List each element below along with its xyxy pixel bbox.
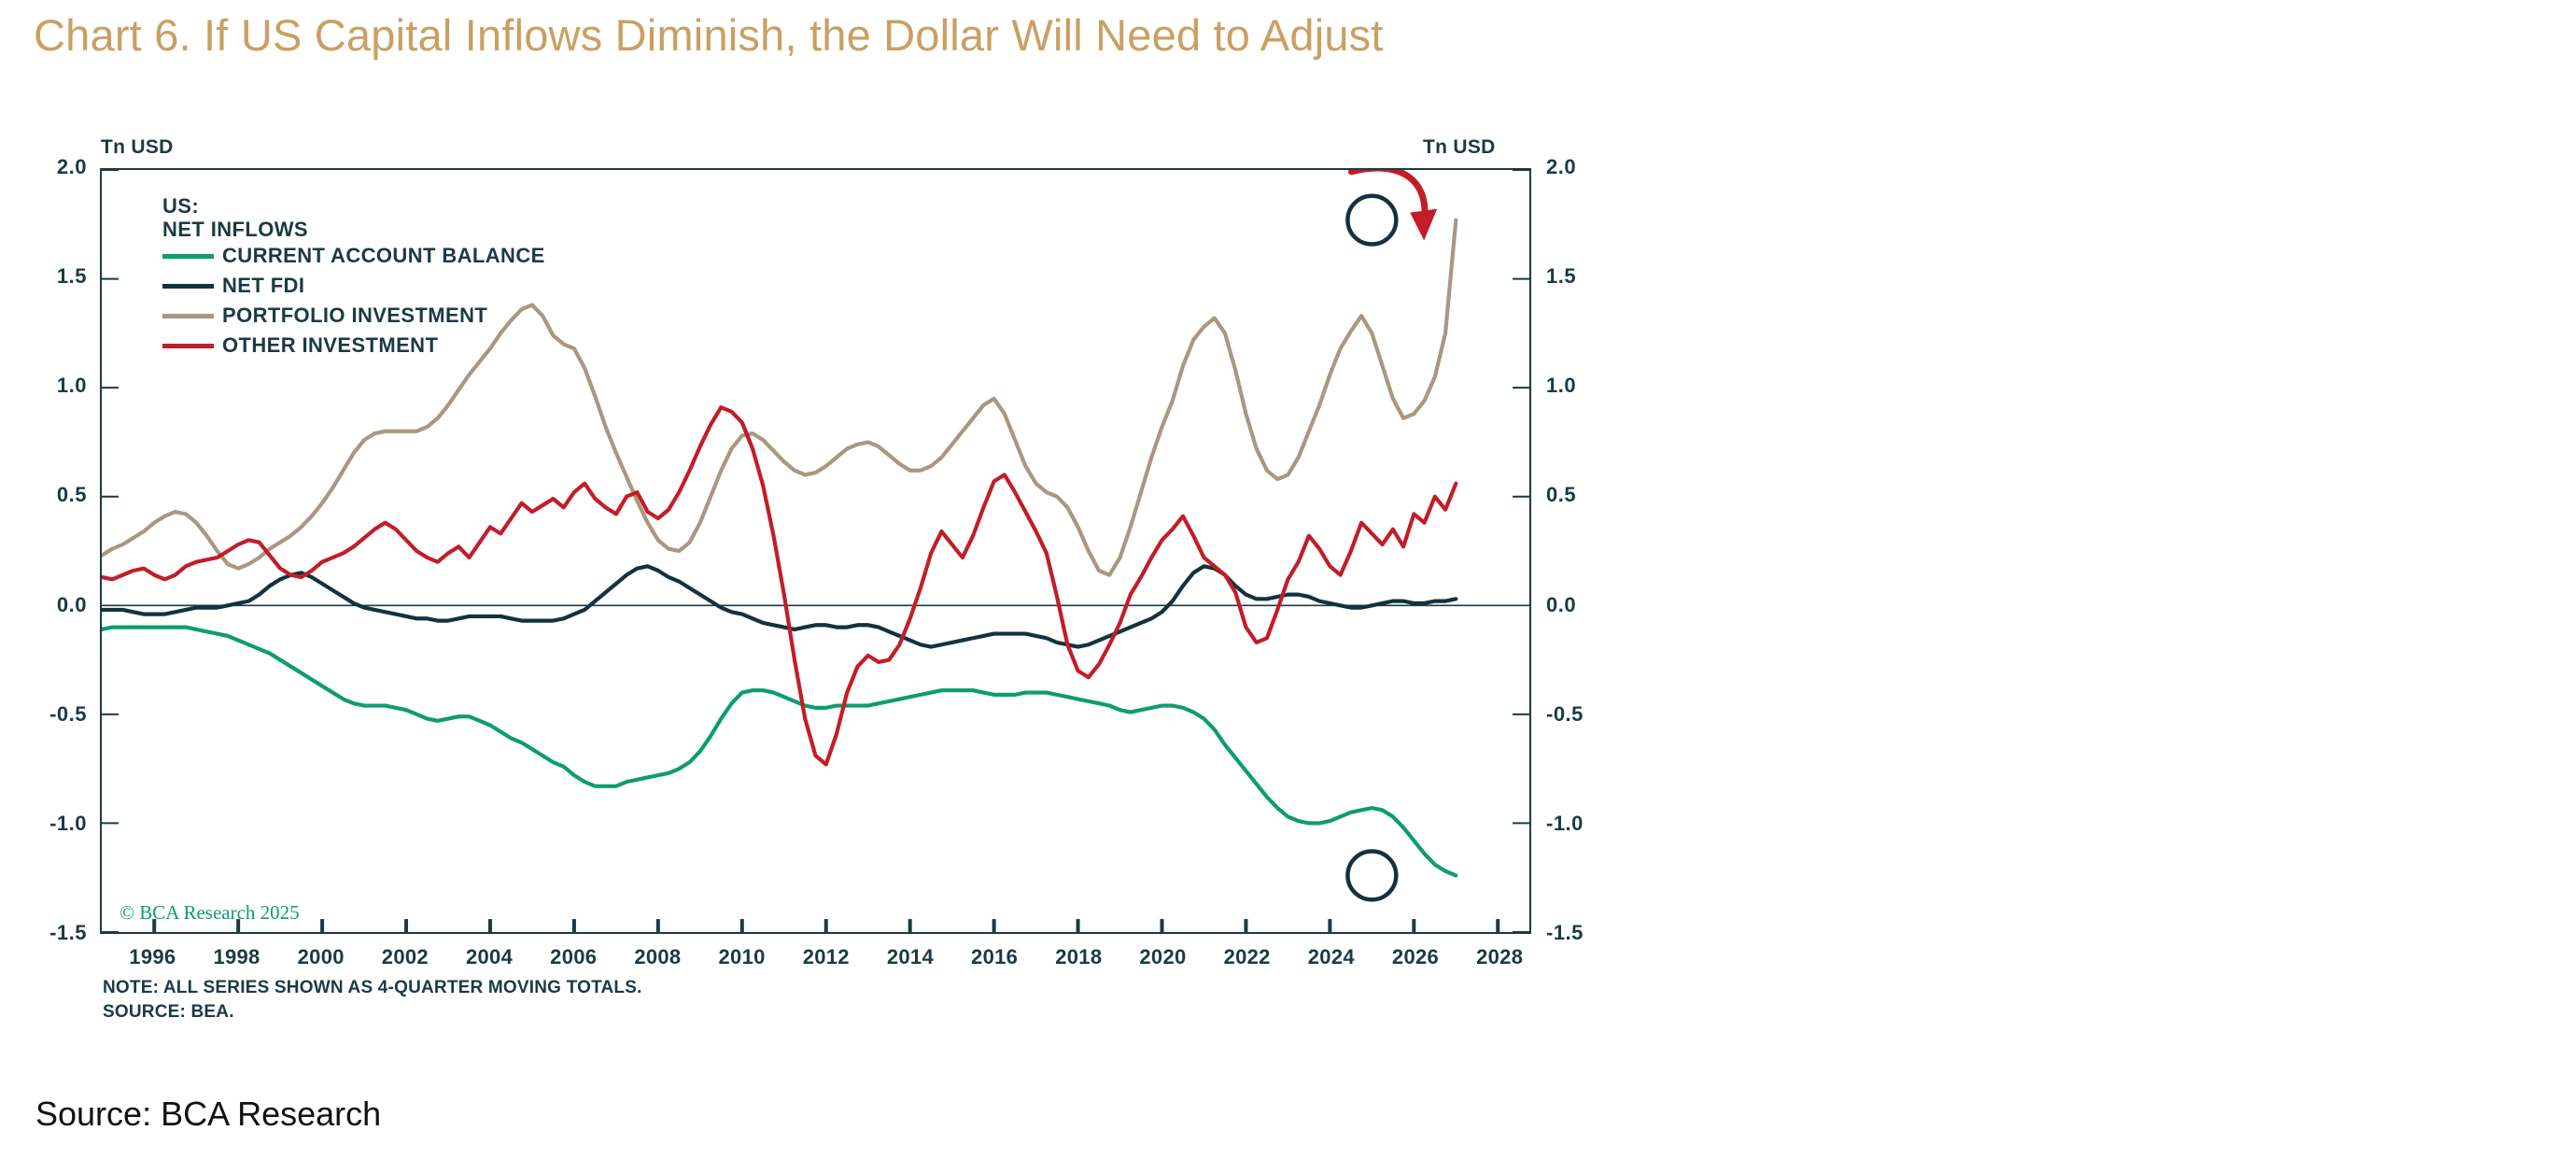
annotation-circle <box>1347 852 1396 900</box>
y-axis-label-right: -1.0 <box>1546 812 1630 836</box>
x-axis-label: 2016 <box>952 945 1036 969</box>
bottom-source-label: Source: BCA Research <box>35 1095 381 1134</box>
x-axis-label: 2024 <box>1289 945 1373 969</box>
chart-container: Tn USD Tn USD 2.01.51.00.50.0-0.5-1.0-1.… <box>0 121 1643 1055</box>
x-axis-label: 2006 <box>531 945 615 969</box>
legend-item[interactable]: PORTFOLIO INVESTMENT <box>162 301 545 331</box>
legend-header-net-inflows: NET INFLOWS <box>162 218 545 241</box>
page-title: Chart 6. If US Capital Inflows Diminish,… <box>34 9 1384 61</box>
y-axis-label-right: -1.5 <box>1546 921 1630 945</box>
y-axis-label-right: 2.0 <box>1546 155 1630 179</box>
chart-legend: US: NET INFLOWS CURRENT ACCOUNT BALANCEN… <box>162 194 545 360</box>
x-axis-label: 2028 <box>1457 945 1541 969</box>
footnote-source: SOURCE: BEA. <box>103 1000 642 1025</box>
legend-header-us: US: <box>162 194 545 218</box>
y-axis-label-left: -1.0 <box>3 812 87 836</box>
legend-item-label: NET FDI <box>222 274 304 298</box>
series-line-other-investment <box>102 407 1456 764</box>
x-axis-label: 2022 <box>1205 945 1289 969</box>
legend-item[interactable]: NET FDI <box>162 271 545 301</box>
x-axis-label: 2002 <box>363 945 447 969</box>
x-axis-label: 2010 <box>700 945 784 969</box>
x-axis-label: 1996 <box>110 945 194 969</box>
y-axis-label-right: 0.5 <box>1546 483 1630 507</box>
legend-swatch-icon <box>162 284 214 289</box>
legend-swatch-icon <box>162 344 214 348</box>
annotation-arrow-head <box>1410 209 1437 241</box>
y-axis-label-left: -1.5 <box>3 921 87 945</box>
legend-item-label: CURRENT ACCOUNT BALANCE <box>222 244 545 268</box>
copyright-notice: © BCA Research 2025 <box>120 901 300 925</box>
y-axis-label-left: 0.0 <box>3 593 87 617</box>
chart-footnotes: NOTE: ALL SERIES SHOWN AS 4-QUARTER MOVI… <box>103 976 642 1025</box>
y-axis-unit-left: Tn USD <box>101 136 174 159</box>
footnote-note: NOTE: ALL SERIES SHOWN AS 4-QUARTER MOVI… <box>103 976 642 1000</box>
y-axis-label-right: 1.0 <box>1546 374 1630 398</box>
x-axis-label: 2018 <box>1036 945 1120 969</box>
y-axis-label-left: 2.0 <box>3 155 87 179</box>
legend-item[interactable]: OTHER INVESTMENT <box>162 331 545 360</box>
y-axis-label-right: -0.5 <box>1546 702 1630 727</box>
x-axis-label: 2000 <box>279 945 363 969</box>
y-axis-label-right: 1.5 <box>1546 264 1630 289</box>
legend-swatch-icon <box>162 314 214 318</box>
y-axis-label-left: 0.5 <box>3 483 87 507</box>
y-axis-label-left: -0.5 <box>3 702 87 727</box>
y-axis-unit-right: Tn USD <box>1423 136 1496 159</box>
y-axis-label-left: 1.0 <box>3 374 87 398</box>
x-axis-label: 2008 <box>615 945 699 969</box>
legend-item-label: OTHER INVESTMENT <box>222 333 438 358</box>
x-axis-label: 2020 <box>1120 945 1204 969</box>
y-axis-label-left: 1.5 <box>3 264 87 289</box>
x-axis-label: 2014 <box>868 945 952 969</box>
series-line-current-account-balance <box>102 628 1456 876</box>
legend-item[interactable]: CURRENT ACCOUNT BALANCE <box>162 241 545 271</box>
y-axis-label-right: 0.0 <box>1546 593 1630 617</box>
x-axis-label: 2004 <box>447 945 531 969</box>
x-axis-label: 1998 <box>195 945 279 969</box>
legend-items: CURRENT ACCOUNT BALANCENET FDIPORTFOLIO … <box>162 241 545 360</box>
legend-item-label: PORTFOLIO INVESTMENT <box>222 304 487 328</box>
x-axis-label: 2026 <box>1373 945 1457 969</box>
x-axis-label: 2012 <box>784 945 868 969</box>
annotation-circle <box>1347 196 1396 245</box>
legend-swatch-icon <box>162 254 214 259</box>
